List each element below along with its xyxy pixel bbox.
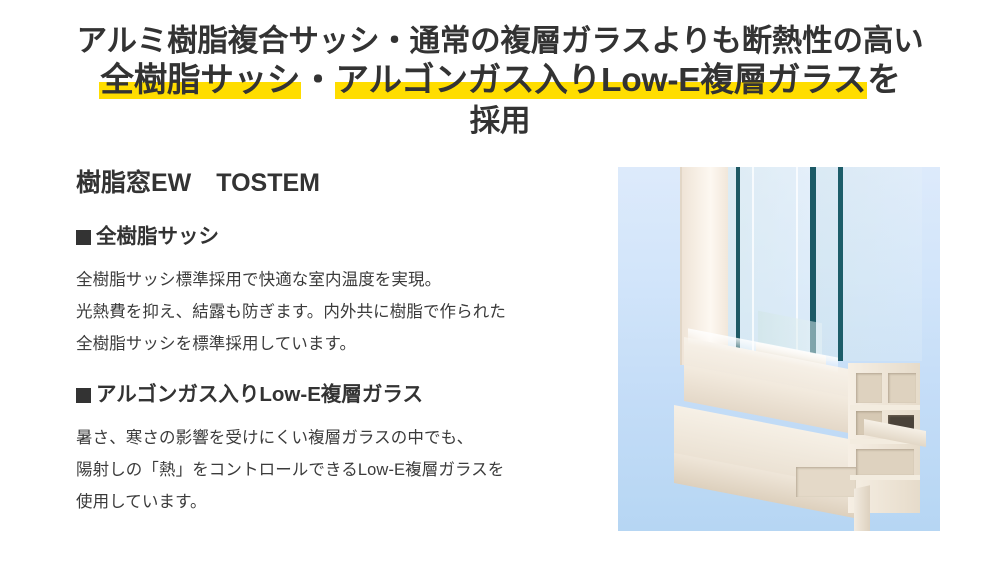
headline-line-2-suffix: を bbox=[867, 62, 900, 99]
body-line: 全樹脂サッシを標準採用しています。 bbox=[76, 328, 606, 360]
headline-highlight-argon-lowe-glass: アルゴンガス入りLow-E複層ガラス bbox=[335, 62, 868, 99]
product-cross-section-image bbox=[618, 167, 940, 531]
section-body-2: 暑さ、寒さの影響を受けにくい複層ガラスの中でも、 陽射しの「熱」をコントロールで… bbox=[76, 422, 606, 519]
section-heading-1: 全樹脂サッシ bbox=[76, 224, 606, 251]
headline-highlight-zenjushi-sash: 全樹脂サッシ bbox=[99, 62, 301, 99]
hollow-chamber bbox=[888, 373, 916, 403]
content-column: 樹脂窓EW TOSTEM 全樹脂サッシ 全樹脂サッシ標準採用で快適な室内温度を実… bbox=[76, 168, 606, 518]
headline-line-1: アルミ樹脂複合サッシ・通常の複層ガラスよりも断熱性の高い bbox=[0, 24, 1000, 59]
section-body-1: 全樹脂サッシ標準採用で快適な室内温度を実現。 光熱費を抑え、結露も防ぎます。内外… bbox=[76, 264, 606, 361]
product-name: 樹脂窓EW TOSTEM bbox=[76, 168, 606, 198]
body-line: 全樹脂サッシ標準採用で快適な室内温度を実現。 bbox=[76, 264, 606, 296]
hollow-chamber bbox=[856, 373, 882, 403]
glass-edge bbox=[838, 167, 843, 361]
section-heading-1-label: 全樹脂サッシ bbox=[96, 224, 219, 251]
section-heading-2: アルゴンガス入りLow-E複層ガラス bbox=[76, 382, 606, 409]
section-heading-2-label: アルゴンガス入りLow-E複層ガラス bbox=[96, 382, 423, 409]
headline-separator: ・ bbox=[301, 62, 334, 99]
body-line: 使用しています。 bbox=[76, 486, 606, 518]
hollow-chamber bbox=[796, 467, 856, 497]
section-rail bbox=[850, 405, 920, 410]
headline-block: アルミ樹脂複合サッシ・通常の複層ガラスよりも断熱性の高い 全樹脂サッシ・アルゴン… bbox=[0, 24, 1000, 140]
glass-reflection-line bbox=[752, 167, 754, 363]
sill-fin bbox=[854, 485, 870, 531]
headline-line-2: 全樹脂サッシ・アルゴンガス入りLow-E複層ガラスを bbox=[0, 62, 1000, 101]
headline-line-3: 採用 bbox=[0, 104, 1000, 139]
section-zenjushi-sash: 全樹脂サッシ 全樹脂サッシ標準採用で快適な室内温度を実現。 光熱費を抑え、結露も… bbox=[76, 224, 606, 360]
square-bullet-icon bbox=[76, 388, 91, 403]
section-argon-lowe-glass: アルゴンガス入りLow-E複層ガラス 暑さ、寒さの影響を受けにくい複層ガラスの中… bbox=[76, 382, 606, 518]
section-rail bbox=[850, 475, 920, 480]
hollow-chamber bbox=[856, 449, 914, 475]
body-line: 陽射しの「熱」をコントロールできるLow-E複層ガラスを bbox=[76, 454, 606, 486]
body-line: 暑さ、寒さの影響を受けにくい複層ガラスの中でも、 bbox=[76, 422, 606, 454]
square-bullet-icon bbox=[76, 230, 91, 245]
glass-pane-outer bbox=[814, 167, 922, 361]
body-line: 光熱費を抑え、結露も防ぎます。内外共に樹脂で作られた bbox=[76, 296, 606, 328]
slide-root: アルミ樹脂複合サッシ・通常の複層ガラスよりも断熱性の高い 全樹脂サッシ・アルゴン… bbox=[0, 0, 1000, 563]
